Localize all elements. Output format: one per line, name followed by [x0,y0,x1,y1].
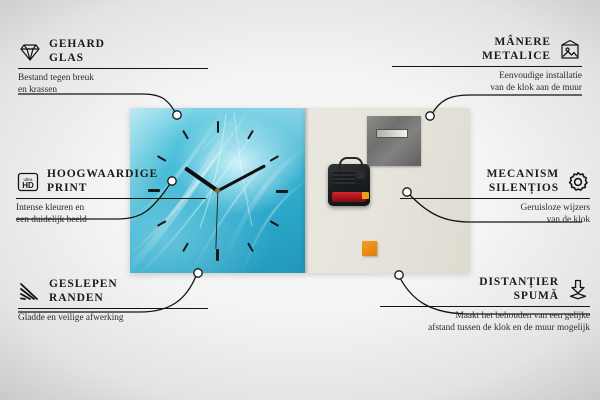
wall-frame-icon [558,38,582,62]
aa-battery [332,192,366,202]
hands-cap [215,188,220,193]
hour-tick [247,129,254,139]
callout-rule [18,68,208,69]
hour-tick [182,242,189,252]
ground-edges-icon [18,280,42,304]
second-hand [215,190,218,248]
foam-spacer [362,241,377,256]
hour-tick [182,129,189,139]
callout-subtitle: Eenvoudige installatie van de klok aan d… [392,71,582,94]
mechanism-loop [339,157,363,171]
callout-subtitle: Bestand tegen breuk en krassen [18,73,208,96]
callout-head: ultra HD HOOGWAARDIGE PRINT [16,168,206,195]
infographic-canvas: GEHARD GLAS Bestand tegen breuk en krass… [0,0,600,400]
hour-tick [216,249,219,261]
callout-head: GESLEPEN RANDEN [18,278,208,305]
hour-tick [269,220,279,227]
callout-title: HOOGWAARDIGE PRINT [47,168,158,195]
callout-title: MECANISM SILENȚIOS [487,168,559,195]
callout-subtitle: Intense kleuren en een duidelijk beeld [16,203,206,226]
callout-subtitle: Maakt het behouden van een gelijke afsta… [380,311,590,334]
callout-rule [16,198,206,199]
battery-plus-terminal [362,192,369,199]
callout-subtitle: Geruisloze wijzers van de klok [400,203,590,226]
callout-title: GESLEPEN RANDEN [49,278,118,305]
callout-edges: GESLEPEN RANDEN Gladde en veilige afwerk… [18,278,208,325]
callout-rule [380,306,590,307]
hour-tick [217,121,220,133]
callout-spacer: DISTANȚIER SPUMĂ Maakt het behouden van … [380,276,590,334]
callout-head: GEHARD GLAS [18,38,208,65]
callout-subtitle: Gladde en veilige afwerking [18,313,208,325]
diamond-icon [18,40,42,64]
callout-title: GEHARD GLAS [49,38,105,65]
callout-hangers: MÂNERE METALICE Eenvoudige installatie v… [392,36,582,94]
gear-icon [566,170,590,194]
callout-head: MÂNERE METALICE [392,36,582,63]
spacer-arrow-icon [566,278,590,302]
hour-tick [156,155,166,162]
callout-print: ultra HD HOOGWAARDIGE PRINT Intense kleu… [16,168,206,226]
callout-title: MÂNERE METALICE [482,36,551,63]
svg-text:HD: HD [22,181,34,190]
callout-rule [392,66,582,67]
callout-mechanism: MECANISM SILENȚIOS Geruisloze wijzers va… [400,168,590,226]
hanger-slot [376,129,408,138]
hour-tick [276,190,288,193]
mechanism-dot [356,170,365,179]
callout-head: DISTANȚIER SPUMĂ [380,276,590,303]
callout-title: DISTANȚIER SPUMĂ [479,276,559,303]
ultra-hd-icon: ultra HD [16,170,40,194]
hour-tick [247,242,254,252]
hour-tick [269,155,279,162]
metal-hanger-plate [367,116,421,166]
callout-head: MECANISM SILENȚIOS [400,168,590,195]
callout-rule [400,198,590,199]
quartz-mechanism-box [328,164,370,206]
callout-glass: GEHARD GLAS Bestand tegen breuk en krass… [18,38,208,96]
minute-hand [217,164,266,192]
callout-rule [18,308,208,309]
mechanism-grill [333,170,355,186]
